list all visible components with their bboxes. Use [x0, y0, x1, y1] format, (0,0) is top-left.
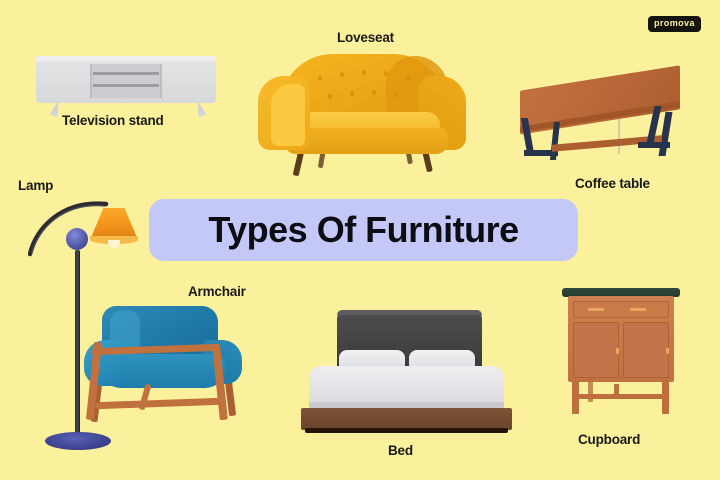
lamp-joint-knob — [66, 228, 88, 250]
loveseat-tuft — [318, 76, 322, 81]
loveseat-tuft — [384, 71, 388, 76]
bed-illustration — [293, 310, 518, 432]
page-title: Types Of Furniture — [208, 209, 518, 251]
loveseat-tuft — [328, 94, 332, 99]
tv-stand-top-surface — [36, 56, 216, 61]
cupboard-drawer-handle-right — [630, 308, 646, 311]
label-loveseat: Loveseat — [337, 30, 394, 45]
label-coffee-table: Coffee table — [575, 176, 650, 191]
bed-headboard-edge — [337, 310, 482, 315]
cupboard-door-right — [623, 322, 669, 378]
coffee-table-illustration — [512, 78, 687, 160]
tv-stand-drawer-line-2 — [93, 84, 159, 87]
bed-base-frame — [301, 408, 512, 430]
label-cupboard: Cupboard — [578, 432, 640, 447]
tv-stand-divider-left — [90, 64, 92, 98]
loveseat-tuft — [394, 92, 398, 97]
infographic-canvas: promova Television stand Loveseat — [0, 0, 720, 480]
cupboard-illustration — [562, 288, 680, 418]
loveseat-tuft — [406, 75, 410, 80]
cupboard-drawer-handle-left — [588, 308, 604, 311]
label-bed: Bed — [388, 443, 413, 458]
promova-logo: promova — [648, 16, 701, 32]
title-banner: Types Of Furniture — [149, 199, 578, 261]
loveseat-tuft — [350, 91, 354, 96]
loveseat-arm-left-highlight — [271, 84, 305, 146]
coffee-table-support-thin — [618, 114, 620, 154]
tv-stand-drawer-block — [90, 64, 162, 98]
loveseat-tuft — [372, 90, 376, 95]
coffee-table-leg-right-foot — [638, 142, 670, 148]
loveseat-illustration — [258, 54, 466, 172]
label-television-stand: Television stand — [62, 113, 164, 128]
tv-stand-divider-right — [160, 64, 162, 98]
cupboard-door-left — [573, 322, 619, 378]
lamp-base — [45, 432, 111, 450]
cupboard-knob-right — [666, 348, 669, 354]
cupboard-stretcher-cross — [614, 384, 619, 398]
lamp-bulb — [108, 240, 120, 248]
loveseat-tuft — [362, 70, 366, 75]
coffee-table-leg-back-right — [659, 112, 673, 156]
cupboard-stretcher-rail — [572, 394, 669, 399]
cupboard-knob-left — [616, 348, 619, 354]
loveseat-tuft — [340, 72, 344, 77]
label-armchair: Armchair — [188, 284, 246, 299]
television-stand-illustration — [36, 52, 216, 110]
bed-base-shadow — [305, 428, 508, 433]
armchair-illustration — [76, 306, 248, 426]
tv-stand-drawer-line-1 — [93, 72, 159, 75]
armchair-frame-rail-bottom — [96, 398, 220, 409]
